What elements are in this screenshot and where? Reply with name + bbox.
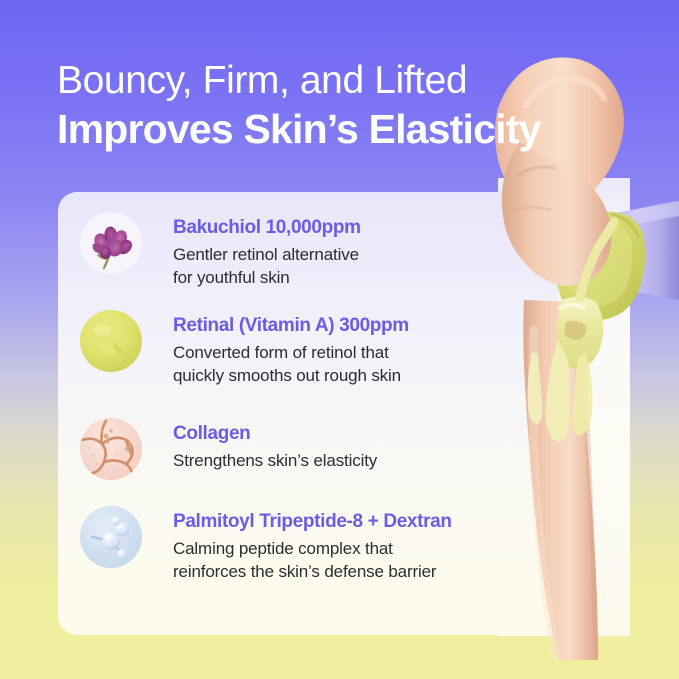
ingredient-description: Gentler retinol alternative for youthful… [173,243,361,289]
headline-line-1: Bouncy, Firm, and Lifted [57,58,617,104]
ingredient-card: Bakuchiol 10,000ppm Gentler retinol alte… [58,192,558,635]
headline: Bouncy, Firm, and Lifted Improves Skin’s… [57,58,617,154]
product-marketing-image: Bouncy, Firm, and Lifted Improves Skin’s… [0,0,679,679]
peptide-molecule-icon [80,506,142,568]
ingredient-row: Bakuchiol 10,000ppm Gentler retinol alte… [80,212,361,289]
headline-line-2: Improves Skin’s Elasticity [57,104,617,154]
collagen-cells-icon [80,418,142,480]
ingredient-title: Collagen [173,421,377,446]
cream-swatch-icon [80,310,142,372]
ingredient-title: Palmitoyl Tripeptide-8 + Dextran [173,509,452,534]
ingredient-text: Retinal (Vitamin A) 300ppm Converted for… [173,310,409,387]
flower-icon [80,212,142,274]
ingredient-description: Calming peptide complex that reinforces … [173,537,452,583]
ingredient-text: Bakuchiol 10,000ppm Gentler retinol alte… [173,212,361,289]
ingredient-text: Collagen Strengthens skin’s elasticity [173,418,377,472]
ingredient-description: Strengthens skin’s elasticity [173,449,377,472]
ingredient-text: Palmitoyl Tripeptide-8 + Dextran Calming… [173,506,452,583]
ingredient-list: Bakuchiol 10,000ppm Gentler retinol alte… [58,192,558,635]
ingredient-row: Collagen Strengthens skin’s elasticity [80,418,377,480]
ingredient-row: Palmitoyl Tripeptide-8 + Dextran Calming… [80,506,452,583]
ingredient-title: Retinal (Vitamin A) 300ppm [173,313,409,338]
ingredient-title: Bakuchiol 10,000ppm [173,215,361,240]
ingredient-description: Converted form of retinol that quickly s… [173,341,409,387]
ingredient-row: Retinal (Vitamin A) 300ppm Converted for… [80,310,409,387]
